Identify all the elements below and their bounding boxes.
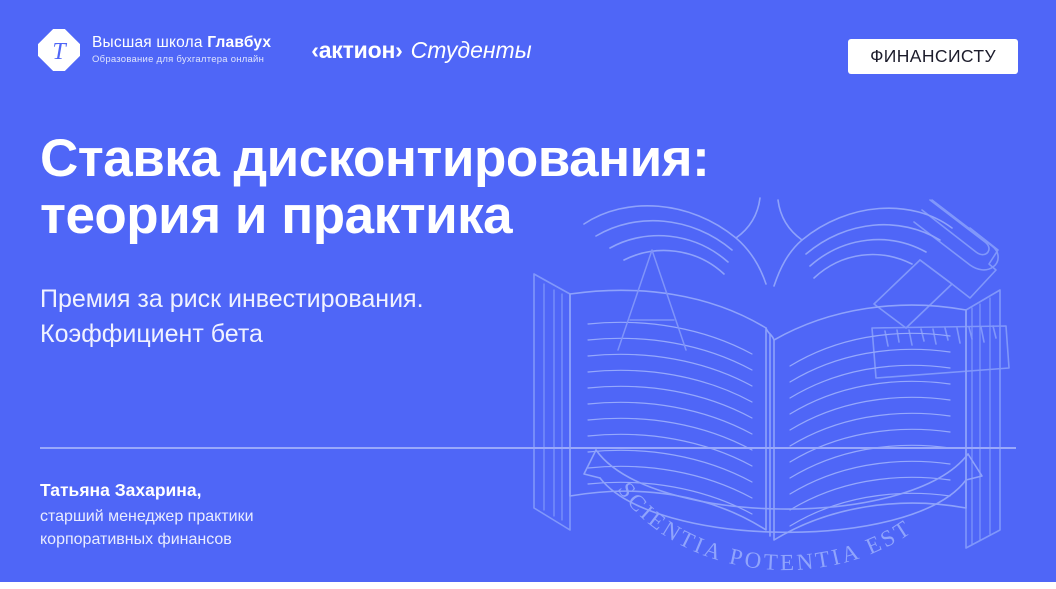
slide-content: Ставка дисконтирования: теория и практик…: [40, 130, 1016, 351]
aktion-suffix: Студенты: [411, 37, 532, 64]
slide-subtitle-line-1: Премия за риск инвестирования.: [40, 282, 1016, 317]
slide-subtitle: Премия за риск инвестирования. Коэффицие…: [40, 282, 1016, 351]
audience-badge: ФИНАНСИСТУ: [848, 39, 1018, 74]
aktion-wordmark: ‹актион›: [311, 37, 402, 64]
glavbuh-logo[interactable]: T Высшая школа Главбух Образование для б…: [38, 29, 271, 71]
svg-text:T: T: [52, 39, 67, 65]
presenter-name: Татьяна Захарина,: [40, 478, 254, 503]
bottom-white-strip: [0, 582, 1056, 589]
motto-text: SCIENTIA POTENTIA EST: [613, 477, 917, 575]
presenter-block: Татьяна Захарина, старший менеджер практ…: [40, 478, 254, 551]
aktion-logo[interactable]: ‹актион› Студенты: [311, 37, 531, 64]
slide-title-line-1: Ставка дисконтирования:: [40, 130, 920, 187]
presenter-role-line-1: старший менеджер практики: [40, 506, 254, 529]
glavbuh-name-regular: Высшая школа: [92, 34, 207, 51]
audience-badge-label: ФИНАНСИСТУ: [870, 46, 996, 67]
slide-title: Ставка дисконтирования: теория и практик…: [40, 130, 920, 244]
presenter-role: старший менеджер практики корпоративных …: [40, 506, 254, 551]
slide-title-line-2: теория и практика: [40, 187, 920, 244]
presenter-role-line-2: корпоративных финансов: [40, 529, 254, 552]
glavbuh-name: Высшая школа Главбух: [92, 34, 271, 52]
glavbuh-tagline: Образование для бухгалтера онлайн: [92, 55, 271, 66]
slide-header: T Высшая школа Главбух Образование для б…: [0, 0, 1056, 100]
content-divider: [40, 447, 1016, 449]
glavbuh-name-bold: Главбух: [207, 34, 271, 51]
glavbuh-logo-text: Высшая школа Главбух Образование для бух…: [92, 34, 271, 66]
presentation-slide: SCIENTIA POTENTIA EST T Высшая школа Гла…: [0, 0, 1056, 589]
glavbuh-mark-icon: T: [38, 29, 80, 71]
slide-subtitle-line-2: Коэффициент бета: [40, 317, 1016, 352]
